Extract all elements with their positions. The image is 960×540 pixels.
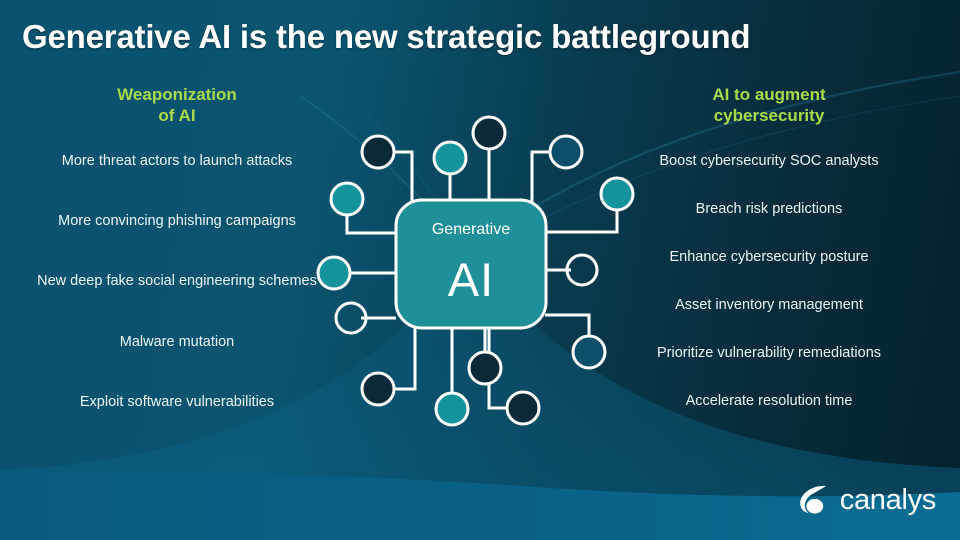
node-left-2 [318,257,350,289]
canalys-logo: canalys [795,482,936,518]
node-top-3 [473,117,505,149]
chip-label-ai: AI [391,252,551,307]
chip-label-generative: Generative [391,221,551,239]
node-bottom-4 [507,392,539,424]
node-right-1 [601,178,633,210]
canalys-swoosh-icon [795,482,831,518]
node-bottom-2 [436,393,468,425]
slide-canvas: Generative AI is the new strategic battl… [0,0,960,540]
node-top-1 [362,136,394,168]
node-top-4 [550,136,582,168]
node-left-1 [331,183,363,215]
node-bottom-1 [362,373,394,405]
node-right-3 [573,336,605,368]
node-top-2 [434,142,466,174]
canalys-logo-text: canalys [840,484,936,517]
node-right-2 [567,255,597,285]
node-bottom-3 [469,352,501,384]
